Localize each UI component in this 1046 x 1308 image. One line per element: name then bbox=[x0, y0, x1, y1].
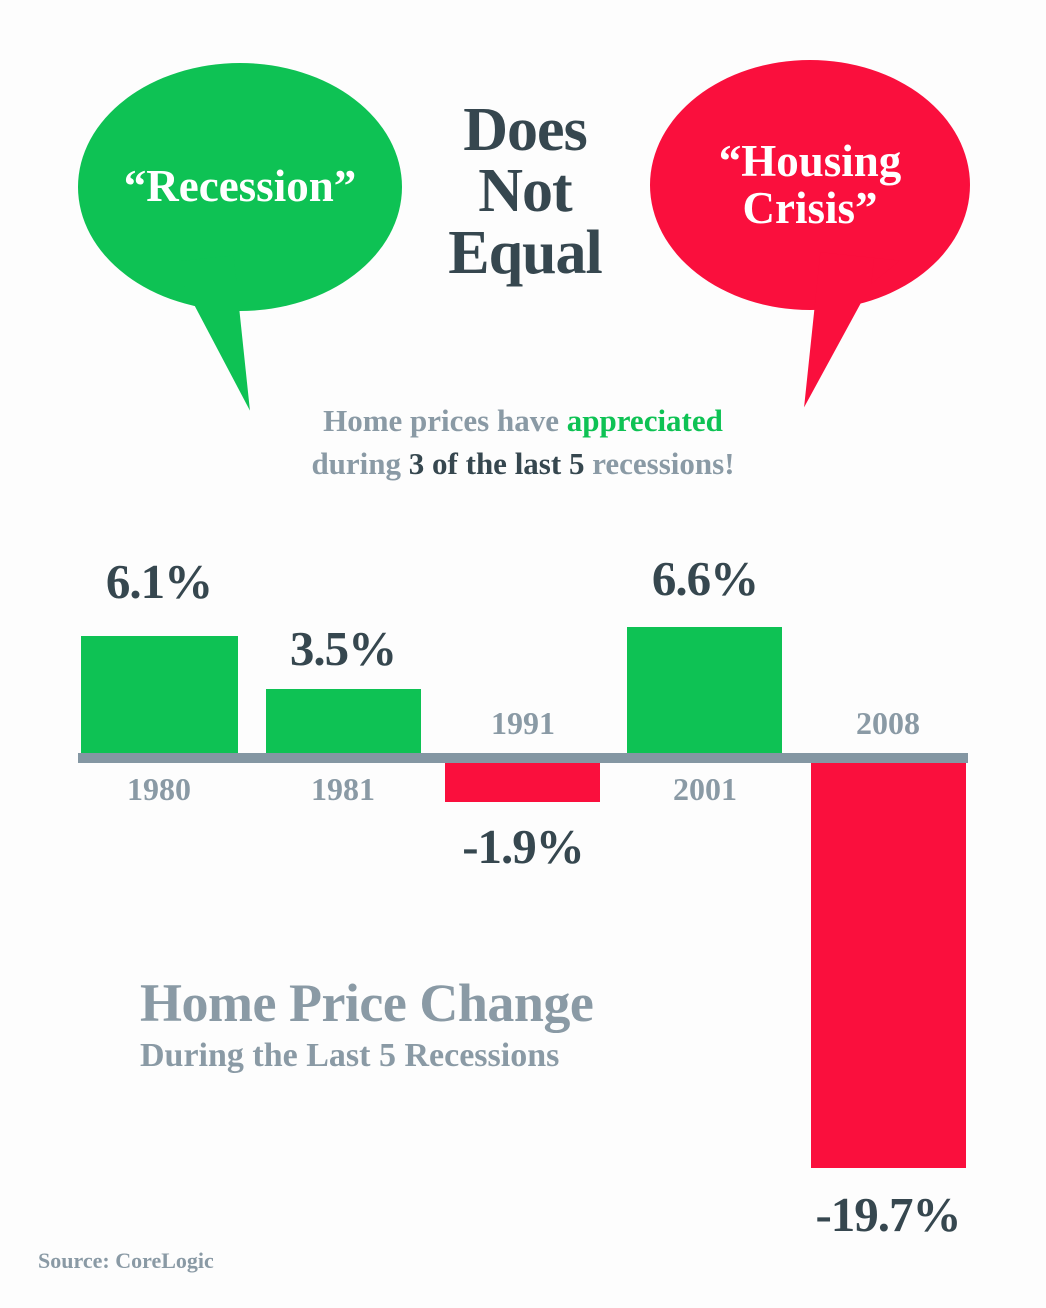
recession-bubble-tail-icon bbox=[158, 255, 250, 418]
year-label-1991: 1991 bbox=[418, 705, 628, 742]
bar-1980 bbox=[81, 636, 238, 754]
value-label-1991: -1.9% bbox=[418, 818, 628, 875]
bar-1991 bbox=[445, 762, 600, 802]
infographic-root: “Recession” Does Not Equal “Housing Cris… bbox=[0, 0, 1046, 1308]
year-label-1980: 1980 bbox=[54, 771, 264, 808]
value-label-1980: 6.1% bbox=[54, 553, 264, 610]
value-label-2001: 6.6% bbox=[600, 550, 810, 607]
year-label-2008: 2008 bbox=[783, 705, 993, 742]
value-label-1981: 3.5% bbox=[238, 620, 448, 677]
chart-title-sub: During the Last 5 Recessions bbox=[140, 1036, 593, 1077]
crisis-bubble-label: “Housing Crisis” bbox=[663, 138, 957, 233]
chart-title-main: Home Price Change bbox=[140, 975, 593, 1032]
bar-2001 bbox=[627, 627, 782, 754]
crisis-bubble-tail-icon bbox=[804, 252, 900, 416]
source-attribution: Source: CoreLogic bbox=[38, 1248, 214, 1274]
crisis-bubble-line-1: “Housing bbox=[719, 136, 902, 186]
value-label-2008: -19.7% bbox=[783, 1186, 993, 1243]
recession-bubble-label: “Recession” bbox=[91, 163, 389, 210]
chart-baseline-axis bbox=[78, 753, 968, 763]
bar-2008 bbox=[811, 762, 966, 1168]
chart-title-block: Home Price Change During the Last 5 Rece… bbox=[140, 975, 593, 1076]
year-label-1981: 1981 bbox=[238, 771, 448, 808]
bar-1981 bbox=[266, 689, 421, 754]
year-label-2001: 2001 bbox=[600, 771, 810, 808]
crisis-bubble-line-2: Crisis” bbox=[742, 183, 877, 233]
